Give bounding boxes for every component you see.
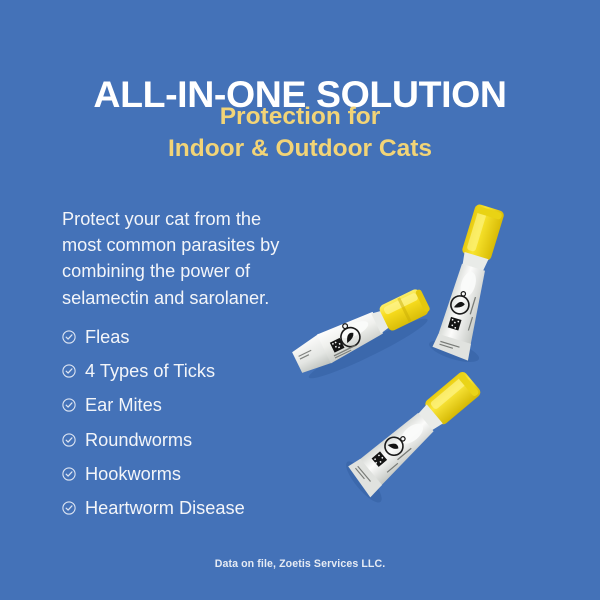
benefit-label: Ear Mites [85, 396, 162, 414]
check-circle-icon [62, 398, 76, 412]
list-item: Ear Mites [62, 388, 362, 422]
check-circle-icon [62, 467, 76, 481]
benefit-label: Fleas [85, 328, 129, 346]
check-circle-icon [62, 501, 76, 515]
body-line-2: most common parasites by [62, 232, 330, 258]
check-circle-icon [62, 433, 76, 447]
promo-poster: ALL-IN-ONE SOLUTION Protection for Indoo… [0, 0, 600, 600]
body-line-3: combining the power of [62, 258, 330, 284]
benefit-label: Heartworm Disease [85, 499, 245, 517]
benefit-list: Fleas 4 Types of Ticks Ear Mites [62, 320, 362, 525]
check-circle-icon [62, 330, 76, 344]
list-item: Fleas [62, 320, 362, 354]
subtitle-line-1: Protection for [0, 101, 600, 133]
body-line-4: selamectin and sarolaner. [62, 285, 330, 311]
check-circle-icon [62, 364, 76, 378]
body-line-1: Protect your cat from the [62, 206, 330, 232]
benefit-label: Roundworms [85, 431, 192, 449]
applicator-tube-top [417, 198, 523, 373]
list-item: 4 Types of Ticks [62, 354, 362, 388]
list-item: Roundworms [62, 423, 362, 457]
benefit-label: Hookworms [85, 465, 181, 483]
list-item: Heartworm Disease [62, 491, 362, 525]
footnote: Data on file, Zoetis Services LLC. [0, 558, 600, 570]
subtitle-line-2: Indoor & Outdoor Cats [0, 133, 600, 165]
body-paragraph: Protect your cat from the most common pa… [62, 206, 330, 311]
subtitle: Protection for Indoor & Outdoor Cats [0, 101, 600, 166]
benefit-label: 4 Types of Ticks [85, 362, 215, 380]
list-item: Hookworms [62, 457, 362, 491]
